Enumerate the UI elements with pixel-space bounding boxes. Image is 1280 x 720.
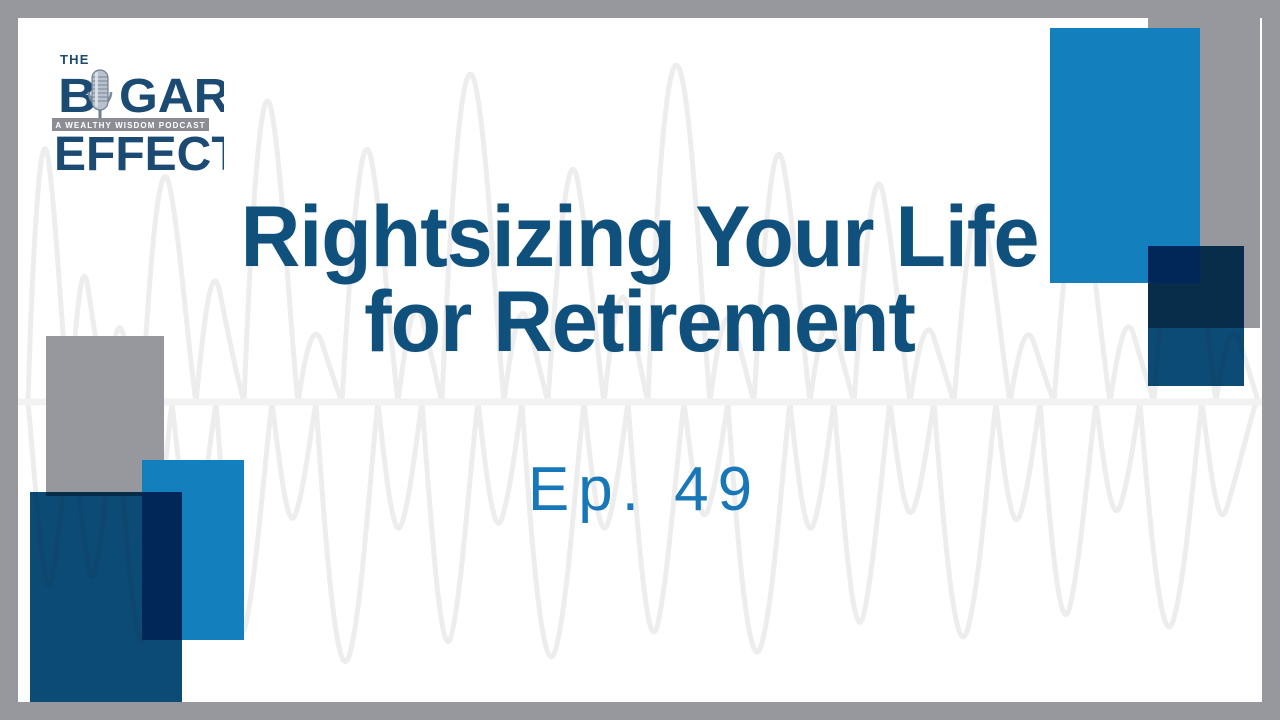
frame-border-top (0, 0, 1280, 18)
frame-border-left (0, 0, 18, 720)
episode-title: Rightsizing Your Life for Retirement (241, 195, 1039, 364)
podcast-episode-cover: THE B GART (0, 0, 1280, 720)
frame-border-bottom (0, 702, 1280, 720)
cover-canvas: THE B GART (18, 18, 1262, 702)
episode-number-label: Ep. 49 (519, 454, 761, 525)
frame-border-right (1262, 0, 1280, 720)
title-block: Rightsizing Your Life for Retirement Ep.… (18, 18, 1262, 702)
